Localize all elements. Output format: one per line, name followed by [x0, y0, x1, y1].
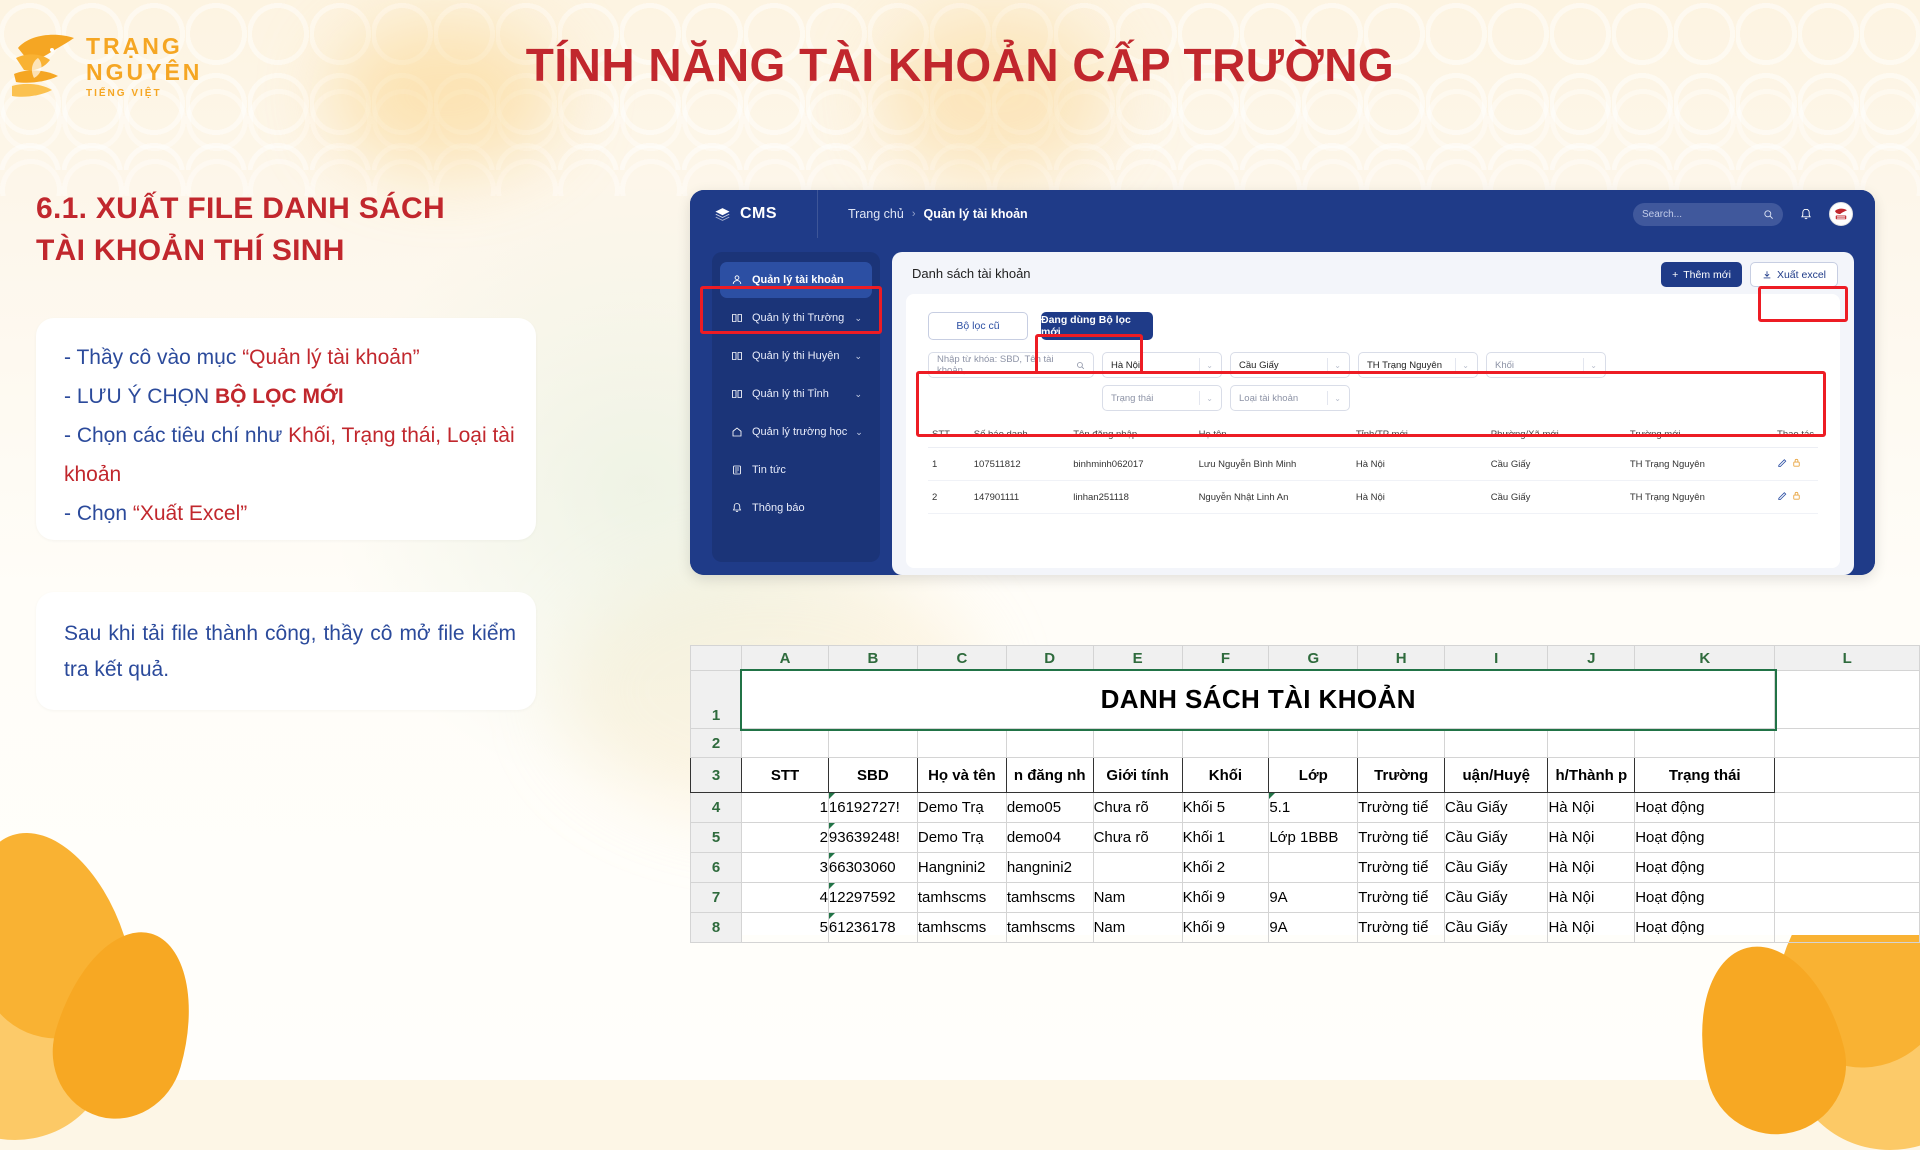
excel-data-row: 4 1 16192727! Demo Trạ demo05 Chưa rõ Kh… — [691, 793, 1920, 823]
instruction-line-3: - Chọn các tiêu chí như Khối, Trạng thái… — [64, 416, 516, 494]
result-text: Sau khi tải file thành công, thầy cô mở … — [64, 616, 516, 688]
excel-cell-fullname[interactable]: Demo Trạ — [917, 823, 1006, 853]
excel-cell-district[interactable]: Cầu Giấy — [1445, 793, 1548, 823]
table-row[interactable]: 2 147901111 linhan251118 Nguyễn Nhật Lin… — [928, 481, 1818, 514]
cms-top-bar: CMS Trang chủ › Quản lý tài khoản Search… — [690, 190, 1875, 239]
cell-ward: Cầu Giấy — [1487, 448, 1626, 481]
excel-cell-I2[interactable] — [1445, 729, 1548, 758]
excel-rownum-3[interactable]: 3 — [691, 758, 742, 793]
excel-column-header-row: A B C D E F G H I J K L — [691, 646, 1920, 671]
excel-cell-stt[interactable]: 3 — [742, 853, 829, 883]
book-icon — [730, 349, 744, 363]
excel-cell-gender[interactable]: Chưa rõ — [1093, 823, 1182, 853]
excel-cell-sbd[interactable]: 66303060 — [828, 853, 917, 883]
excel-cell-school[interactable]: Trường tiể — [1358, 853, 1445, 883]
plus-icon: + — [1672, 269, 1678, 281]
excel-cell-sbd[interactable]: 16192727! — [828, 793, 917, 823]
excel-merged-title-cell[interactable]: DANH SÁCH TÀI KHOẢN — [742, 671, 1775, 729]
instruction-4-prefix: - Chọn — [64, 502, 133, 525]
excel-cell-C2[interactable] — [917, 729, 1006, 758]
sidebar-item-label: Thông báo — [752, 502, 862, 514]
excel-col-c[interactable]: C — [917, 646, 1006, 671]
excel-cell-district[interactable]: Cầu Giấy — [1445, 853, 1548, 883]
sidebar-item-label: Quản lý thi Huyện — [752, 350, 846, 362]
excel-cell-L3[interactable] — [1775, 758, 1920, 793]
excel-cell-G2[interactable] — [1269, 729, 1358, 758]
sidebar-item-tin-tuc[interactable]: Tin tức — [720, 452, 872, 488]
cms-top-bar-actions: Search... — [1633, 202, 1875, 226]
district-value: Cầu Giấy — [1239, 360, 1279, 371]
download-icon — [1762, 270, 1772, 280]
excel-col-f[interactable]: F — [1182, 646, 1269, 671]
excel-data-row: 7 4 12297592 tamhscms tamhscms Nam Khối … — [691, 883, 1920, 913]
lock-icon[interactable] — [1791, 490, 1802, 501]
bell-icon — [730, 501, 744, 515]
excel-cell-district[interactable]: Cầu Giấy — [1445, 883, 1548, 913]
book-icon — [730, 387, 744, 401]
excel-cell-province[interactable]: Hà Nội — [1548, 883, 1635, 913]
edit-icon[interactable] — [1777, 457, 1788, 468]
instruction-line-2: - LƯU Ý CHỌN BỘ LỌC MỚI — [64, 377, 516, 416]
excel-header-province[interactable]: h/Thành p — [1548, 758, 1635, 793]
page-title: TÍNH NĂNG TÀI KHOẢN CẤP TRƯỜNG — [0, 38, 1920, 92]
annotation-box-filter-criteria — [916, 371, 1826, 437]
instruction-1-quoted: “Quản lý tài khoản” — [242, 346, 419, 369]
excel-cell-grade[interactable]: Khối 1 — [1182, 823, 1269, 853]
excel-header-class[interactable]: Lớp — [1269, 758, 1358, 793]
annotation-box-export-excel — [1758, 286, 1848, 322]
instructions-card: - Thầy cô vào mục “Quản lý tài khoản” - … — [36, 318, 536, 540]
excel-rownum-6[interactable]: 6 — [691, 853, 742, 883]
export-excel-label: Xuất excel — [1777, 269, 1826, 281]
sidebar-item-quan-ly-thi-huyen[interactable]: Quản lý thi Huyện ⌄ — [720, 338, 872, 374]
grade-value: Khối — [1495, 360, 1514, 371]
layers-icon — [714, 206, 731, 223]
instruction-3-prefix: - Chọn các tiêu chí như — [64, 424, 288, 447]
sidebar-item-label: Quản lý thi Tỉnh — [752, 388, 846, 400]
instruction-2-bold: BỘ LỌC MỚI — [215, 385, 344, 408]
breadcrumb-separator-icon: › — [912, 208, 916, 220]
excel-cell-school[interactable]: Trường tiể — [1358, 913, 1445, 943]
sidebar-item-thong-bao[interactable]: Thông báo — [720, 490, 872, 526]
excel-rownum-4[interactable]: 4 — [691, 793, 742, 823]
tab-filter-old[interactable]: Bộ lọc cũ — [928, 312, 1028, 340]
excel-cell-username[interactable]: tamhscms — [1006, 883, 1093, 913]
excel-cell-K2[interactable] — [1635, 729, 1775, 758]
excel-cell-username[interactable]: hangnini2 — [1006, 853, 1093, 883]
lock-icon[interactable] — [1791, 457, 1802, 468]
excel-cell-school[interactable]: Trường tiể — [1358, 883, 1445, 913]
excel-cell-stt[interactable]: 5 — [742, 913, 829, 943]
search-input[interactable]: Search... — [1633, 203, 1783, 226]
excel-cell-fullname[interactable]: tamhscms — [917, 913, 1006, 943]
excel-col-e[interactable]: E — [1093, 646, 1182, 671]
excel-col-k[interactable]: K — [1635, 646, 1775, 671]
excel-cell-province[interactable]: Hà Nội — [1548, 793, 1635, 823]
excel-data-row: 5 2 93639248! Demo Trạ demo04 Chưa rõ Kh… — [691, 823, 1920, 853]
sidebar-item-label: Tin tức — [752, 464, 862, 476]
excel-cell-fullname[interactable]: tamhscms — [917, 883, 1006, 913]
excel-cell-gender[interactable]: Nam — [1093, 913, 1182, 943]
home-icon — [730, 425, 744, 439]
excel-row-2: 2 — [691, 729, 1920, 758]
excel-cell-province[interactable]: Hà Nội — [1548, 853, 1635, 883]
excel-cell-fullname[interactable]: Hangnini2 — [917, 853, 1006, 883]
avatar-icon — [1832, 205, 1850, 223]
add-new-label: Thêm mới — [1683, 269, 1731, 281]
excel-col-i[interactable]: I — [1445, 646, 1548, 671]
excel-cell-L4[interactable] — [1775, 793, 1920, 823]
excel-row-1: 1 DANH SÁCH TÀI KHOẢN — [691, 671, 1920, 729]
excel-cell-L1[interactable] — [1775, 671, 1920, 729]
excel-cell-L6[interactable] — [1775, 853, 1920, 883]
section-heading-line-2: TÀI KHOẢN THÍ SINH — [36, 230, 536, 272]
cell-ward: Cầu Giấy — [1487, 481, 1626, 514]
excel-cell-stt[interactable]: 4 — [742, 883, 829, 913]
news-icon — [730, 463, 744, 477]
excel-header-district[interactable]: uận/Huyệ — [1445, 758, 1548, 793]
excel-cell-sbd[interactable]: 93639248! — [828, 823, 917, 853]
excel-header-grade[interactable]: Khối — [1182, 758, 1269, 793]
cell-school: TH Trạng Nguyên — [1626, 448, 1773, 481]
excel-cell-grade[interactable]: Khối 5 — [1182, 793, 1269, 823]
excel-col-d[interactable]: D — [1006, 646, 1093, 671]
excel-header-status[interactable]: Trạng thái — [1635, 758, 1775, 793]
excel-cell-L5[interactable] — [1775, 823, 1920, 853]
cms-app-name: CMS — [740, 205, 777, 223]
excel-cell-grade[interactable]: Khối 9 — [1182, 913, 1269, 943]
excel-rownum-8[interactable]: 8 — [691, 913, 742, 943]
breadcrumb: Trang chủ › Quản lý tài khoản — [848, 207, 1028, 221]
search-placeholder: Search... — [1642, 209, 1763, 220]
excel-corner-cell[interactable] — [691, 646, 742, 671]
excel-cell-sbd[interactable]: 12297592 — [828, 883, 917, 913]
instruction-2-prefix: - LƯU Ý CHỌN — [64, 385, 215, 408]
excel-cell-stt[interactable]: 1 — [742, 793, 829, 823]
chevron-down-icon: ⌄ — [1583, 358, 1597, 372]
excel-cell-F2[interactable] — [1182, 729, 1269, 758]
chevron-down-icon[interactable]: ⌄ — [854, 389, 862, 400]
excel-rownum-5[interactable]: 5 — [691, 823, 742, 853]
annotation-box-sidebar — [700, 286, 882, 334]
sidebar-item-quan-ly-thi-tinh[interactable]: Quản lý thi Tỉnh ⌄ — [720, 376, 872, 412]
cell-username: binhminh062017 — [1069, 448, 1194, 481]
excel-cell-gender[interactable]: Chưa rõ — [1093, 793, 1182, 823]
search-icon — [1763, 209, 1774, 220]
excel-header-sbd[interactable]: SBD — [828, 758, 917, 793]
excel-data-row: 6 3 66303060 Hangnini2 hangnini2 Khối 2 … — [691, 853, 1920, 883]
chevron-down-icon: ⌄ — [1455, 358, 1469, 372]
instruction-line-1: - Thầy cô vào mục “Quản lý tài khoản” — [64, 338, 516, 377]
instruction-4-quoted: “Xuất Excel” — [133, 502, 247, 525]
cell-stt: 1 — [928, 448, 970, 481]
breadcrumb-home[interactable]: Trang chủ — [848, 207, 904, 221]
excel-col-l[interactable]: L — [1775, 646, 1920, 671]
excel-col-b[interactable]: B — [828, 646, 917, 671]
cell-province: Hà Nội — [1352, 481, 1487, 514]
table-row[interactable]: 1 107511812 binhminh062017 Lưu Nguyễn Bì… — [928, 448, 1818, 481]
excel-col-a[interactable]: A — [742, 646, 829, 671]
excel-header-username[interactable]: n đăng nh — [1006, 758, 1093, 793]
cell-actions — [1773, 481, 1818, 514]
excel-cell-school[interactable]: Trường tiể — [1358, 823, 1445, 853]
cell-fullname: Nguyễn Nhật Linh An — [1195, 481, 1352, 514]
excel-cell-status[interactable]: Hoạt động — [1635, 883, 1775, 913]
excel-cell-class[interactable]: 9A — [1269, 913, 1358, 943]
export-excel-button[interactable]: Xuất excel — [1750, 262, 1838, 287]
excel-rownum-1[interactable]: 1 — [691, 671, 742, 729]
cms-logo[interactable]: CMS — [690, 190, 818, 238]
excel-cell-status[interactable]: Hoạt động — [1635, 823, 1775, 853]
excel-cell-B2[interactable] — [828, 729, 917, 758]
avatar[interactable] — [1829, 202, 1853, 226]
excel-grid: A B C D E F G H I J K L 1 DANH SÁCH TÀI … — [690, 645, 1920, 943]
cell-sbd: 147901111 — [970, 481, 1069, 514]
excel-cell-province[interactable]: Hà Nội — [1548, 823, 1635, 853]
result-card: Sau khi tải file thành công, thầy cô mở … — [36, 592, 536, 710]
excel-cell-A2[interactable] — [742, 729, 829, 758]
excel-cell-class[interactable]: Lớp 1BBB — [1269, 823, 1358, 853]
excel-cell-L8[interactable] — [1775, 913, 1920, 943]
tab-filter-old-label: Bộ lọc cũ — [956, 320, 999, 332]
decorative-blob — [880, 10, 1110, 180]
excel-data-row: 8 5 61236178 tamhscms tamhscms Nam Khối … — [691, 913, 1920, 943]
sidebar-item-label: Quản lý tài khoản — [752, 274, 862, 286]
excel-header-gender[interactable]: Giới tính — [1093, 758, 1182, 793]
excel-header-stt[interactable]: STT — [742, 758, 829, 793]
panel-title: Danh sách tài khoản — [912, 266, 1031, 281]
cell-sbd: 107511812 — [970, 448, 1069, 481]
chevron-down-icon[interactable]: ⌄ — [854, 351, 862, 362]
cell-school: TH Trạng Nguyên — [1626, 481, 1773, 514]
excel-header-fullname[interactable]: Họ và tên — [917, 758, 1006, 793]
excel-cell-username[interactable]: demo04 — [1006, 823, 1093, 853]
instruction-line-4: - Chọn “Xuất Excel” — [64, 494, 516, 533]
breadcrumb-current: Quản lý tài khoản — [924, 207, 1028, 221]
sidebar-item-quan-ly-truong-hoc[interactable]: Quản lý trường học ⌄ — [720, 414, 872, 450]
excel-cell-H2[interactable] — [1358, 729, 1445, 758]
cell-username: linhan251118 — [1069, 481, 1194, 514]
excel-cell-gender[interactable]: Nam — [1093, 883, 1182, 913]
excel-cell-J2[interactable] — [1548, 729, 1635, 758]
excel-cell-district[interactable]: Cầu Giấy — [1445, 913, 1548, 943]
excel-cell-district[interactable]: Cầu Giấy — [1445, 823, 1548, 853]
excel-cell-grade[interactable]: Khối 2 — [1182, 853, 1269, 883]
excel-cell-E2[interactable] — [1093, 729, 1182, 758]
excel-cell-fullname[interactable]: Demo Trạ — [917, 793, 1006, 823]
chevron-down-icon: ⌄ — [1327, 358, 1341, 372]
excel-rownum-7[interactable]: 7 — [691, 883, 742, 913]
excel-header-school[interactable]: Trường — [1358, 758, 1445, 793]
excel-cell-gender[interactable] — [1093, 853, 1182, 883]
section-heading: 6.1. XUẤT FILE DANH SÁCH TÀI KHOẢN THÍ S… — [36, 188, 536, 272]
excel-cell-L2[interactable] — [1775, 729, 1920, 758]
chevron-down-icon: ⌄ — [1199, 358, 1213, 372]
sidebar-item-label: Quản lý trường học — [752, 426, 847, 438]
section-heading-line-1: 6.1. XUẤT FILE DANH SÁCH — [36, 188, 536, 230]
excel-col-g[interactable]: G — [1269, 646, 1358, 671]
excel-col-h[interactable]: H — [1358, 646, 1445, 671]
excel-col-j[interactable]: J — [1548, 646, 1635, 671]
excel-cell-status[interactable]: Hoạt động — [1635, 793, 1775, 823]
cell-fullname: Lưu Nguyễn Bình Minh — [1195, 448, 1352, 481]
excel-cell-username[interactable]: tamhscms — [1006, 913, 1093, 943]
cell-actions — [1773, 448, 1818, 481]
excel-rownum-2[interactable]: 2 — [691, 729, 742, 758]
excel-cell-status[interactable]: Hoạt động — [1635, 913, 1775, 943]
instructions-text: - Thầy cô vào mục “Quản lý tài khoản” - … — [64, 338, 516, 533]
edit-icon[interactable] — [1777, 490, 1788, 501]
annotation-box-filter-new — [1035, 334, 1143, 374]
excel-screenshot: A B C D E F G H I J K L 1 DANH SÁCH TÀI … — [690, 645, 1920, 935]
chevron-down-icon[interactable]: ⌄ — [855, 427, 863, 438]
excel-cell-stt[interactable]: 2 — [742, 823, 829, 853]
cell-province: Hà Nội — [1352, 448, 1487, 481]
excel-cell-class[interactable] — [1269, 853, 1358, 883]
excel-cell-status[interactable]: Hoạt động — [1635, 853, 1775, 883]
excel-cell-class[interactable]: 9A — [1269, 883, 1358, 913]
excel-row-3-header: 3 STT SBD Họ và tên n đăng nh Giới tính … — [691, 758, 1920, 793]
excel-cell-class[interactable]: 5.1 — [1269, 793, 1358, 823]
instruction-1-prefix: - Thầy cô vào mục — [64, 346, 242, 369]
excel-cell-username[interactable]: demo05 — [1006, 793, 1093, 823]
excel-cell-sbd[interactable]: 61236178 — [828, 913, 917, 943]
excel-cell-grade[interactable]: Khối 9 — [1182, 883, 1269, 913]
add-new-button[interactable]: + Thêm mới — [1661, 262, 1742, 287]
excel-cell-D2[interactable] — [1006, 729, 1093, 758]
bell-icon[interactable] — [1799, 207, 1813, 222]
excel-cell-province[interactable]: Hà Nội — [1548, 913, 1635, 943]
cell-stt: 2 — [928, 481, 970, 514]
excel-cell-school[interactable]: Trường tiể — [1358, 793, 1445, 823]
excel-cell-L7[interactable] — [1775, 883, 1920, 913]
user-icon — [730, 273, 744, 287]
school-value: TH Trạng Nguyên — [1367, 360, 1442, 371]
panel-actions: + Thêm mới Xuất excel — [1661, 262, 1838, 287]
